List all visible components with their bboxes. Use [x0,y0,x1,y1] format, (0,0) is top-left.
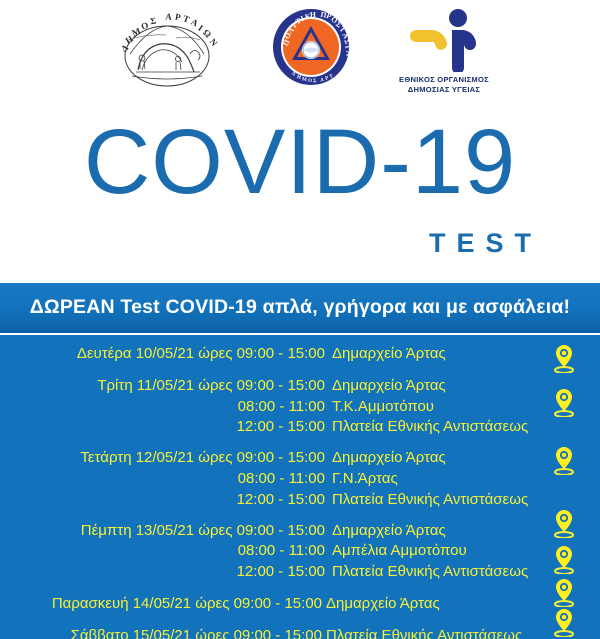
schedule-row-place: Πλατεία Εθνικής Αντιστάσεως [325,417,528,438]
schedule-day-monday: Δευτέρα 10/05/21 ώρες 09:00 - 15:00 Δημα… [0,344,600,365]
schedule-day-friday: Παρασκευή 14/05/21 ώρες 09:00 - 15:00 Δη… [0,594,600,615]
eody-caption-line2: ΔΗΜΟΣΙΑΣ ΥΓΕΙΑΣ [399,85,489,95]
schedule-row: 08:00 - 11:00 Τ.Κ.Αμμοτόπου [0,397,600,418]
schedule-row-lead: 08:00 - 11:00 [0,469,325,490]
svg-text:Σ: Σ [150,16,157,27]
announcement-banner-text: ΔΩΡΕΑΝ Test COVID-19 απλά, γρήγορα και μ… [30,296,570,319]
schedule-row: 12:00 - 15:00 Πλατεία Εθνικής Αντιστάσεω… [0,562,600,583]
schedule-row-place: Δημαρχείο Άρτας [325,521,446,542]
schedule-row-place: Τ.Κ.Αμμοτόπου [325,397,434,418]
svg-text:Ν: Ν [208,37,220,49]
svg-text:Ω: Ω [201,27,213,39]
schedule-row-lead: 08:00 - 11:00 [0,541,325,562]
eody-caption: ΕΘΝΙΚΟΣ ΟΡΓΑΝΙΣΜΟΣ ΔΗΜΟΣΙΑΣ ΥΓΕΙΑΣ [399,75,489,95]
schedule-row-place: Γ.Ν.Άρτας [325,469,398,490]
map-pin-icon[interactable] [552,387,576,417]
svg-text:Ο: Ο [140,20,149,31]
schedule-row-place: Δημαρχείο Άρτας [325,344,446,365]
schedule-row-place: Αμπέλια Αμμοτόπου [325,541,467,562]
map-pin-icon[interactable] [552,508,576,538]
schedule-row-lead: Τρίτη 11/05/21 ώρες 09:00 - 15:00 [0,376,325,397]
schedule-row-lead: 12:00 - 15:00 [0,562,325,583]
map-pin-icon[interactable] [552,577,576,607]
announcement-banner: ΔΩΡΕΑΝ Test COVID-19 απλά, γρήγορα και μ… [0,283,600,333]
svg-text:Α: Α [165,11,173,21]
map-pin-icon[interactable] [552,607,576,637]
poster-root: Δ Η Μ Ο Σ Α Ρ Τ Α Ι Ω Ν ΔΗΜΟΣ ΑΡΤΑΙΩΝ [0,0,600,639]
schedule-day-saturday: Σάββατο 15/05/21 ώρες 09:00 - 15:00 Πλατ… [0,626,600,639]
schedule-row-place: Δημαρχείο Άρτας [322,594,440,615]
page-subtitle: TEST [429,228,542,259]
schedule-row: 12:00 - 15:00 Πλατεία Εθνικής Αντιστάσεω… [0,417,600,438]
logo-dimos-artaion: Δ Η Μ Ο Σ Α Ρ Τ Α Ι Ω Ν ΔΗΜΟΣ ΑΡΤΑΙΩΝ [108,8,226,92]
schedule-row: Παρασκευή 14/05/21 ώρες 09:00 - 15:00 Δη… [0,594,600,615]
schedule-row-lead: Πέμπτη 13/05/21 ώρες 09:00 - 15:00 [0,521,325,542]
schedule-row: Δευτέρα 10/05/21 ώρες 09:00 - 15:00 Δημα… [0,344,600,365]
schedule-row-lead: 08:00 - 11:00 [0,397,325,418]
schedule-row-place: Δημαρχείο Άρτας [325,448,446,469]
schedule-row-lead: Δευτέρα 10/05/21 ώρες 09:00 - 15:00 [0,344,325,365]
svg-text:Τ: Τ [182,13,191,24]
schedule-row-lead: 12:00 - 15:00 [0,490,325,511]
schedule-day-tuesday: Τρίτη 11/05/21 ώρες 09:00 - 15:00 Δημαρχ… [0,376,600,438]
politiki-prostasia-seal-icon: Π Ο Λ Ι Τ Ι Κ Η Π Ρ Ο Σ Τ Α Σ Ι Α [272,8,350,86]
eody-caption-line1: ΕΘΝΙΚΟΣ ΟΡΓΑΝΙΣΜΟΣ [399,75,489,85]
title-block: COVID-19 [0,116,600,208]
logo-eody: ΕΘΝΙΚΟΣ ΟΡΓΑΝΙΣΜΟΣ ΔΗΜΟΣΙΑΣ ΥΓΕΙΑΣ [396,8,492,95]
schedule-row: 12:00 - 15:00 Πλατεία Εθνικής Αντιστάσεω… [0,490,600,511]
svg-text:Ρ: Ρ [174,12,182,23]
dimos-artaion-seal-icon: Δ Η Μ Ο Σ Α Ρ Τ Α Ι Ω Ν [108,8,226,92]
schedule-row-place: Δημαρχείο Άρτας [325,376,446,397]
schedule-row-lead: Σάββατο 15/05/21 ώρες 09:00 - 15:00 [0,626,322,639]
schedule-row: 08:00 - 11:00 Αμπέλια Αμμοτόπου [0,541,600,562]
logo-politiki-prostasia: Π Ο Λ Ι Τ Ι Κ Η Π Ρ Ο Σ Τ Α Σ Ι Α [272,8,350,86]
svg-text:Ο: Ο [308,78,312,84]
schedule-day-thursday: Πέμπτη 13/05/21 ώρες 09:00 - 15:00 Δημαρ… [0,521,600,583]
schedule-panel: Δευτέρα 10/05/21 ώρες 09:00 - 15:00 Δημα… [0,335,600,639]
schedule-list: Δευτέρα 10/05/21 ώρες 09:00 - 15:00 Δημα… [0,335,600,639]
schedule-row-lead: Τετάρτη 12/05/21 ώρες 09:00 - 15:00 [0,448,325,469]
schedule-row-lead: 12:00 - 15:00 [0,417,325,438]
schedule-row: Τρίτη 11/05/21 ώρες 09:00 - 15:00 Δημαρχ… [0,376,600,397]
schedule-row-place: Πλατεία Εθνικής Αντιστάσεως [325,562,528,583]
schedule-row-place: Πλατεία Εθνικής Αντιστάσεως [322,626,522,639]
schedule-row-place: Πλατεία Εθνικής Αντιστάσεως [325,490,528,511]
map-pin-icon[interactable] [552,343,576,373]
map-pin-icon[interactable] [552,544,576,574]
eody-logo-icon [396,8,492,72]
svg-text:Α: Α [344,50,350,57]
svg-text:Η: Η [310,10,316,19]
logo-row: Δ Η Μ Ο Σ Α Ρ Τ Α Ι Ω Ν ΔΗΜΟΣ ΑΡΤΑΙΩΝ [0,0,600,112]
map-pin-icon[interactable] [552,445,576,475]
schedule-row: Τετάρτη 12/05/21 ώρες 09:00 - 15:00 Δημα… [0,448,600,469]
schedule-row: Πέμπτη 13/05/21 ώρες 09:00 - 15:00 Δημαρ… [0,521,600,542]
schedule-row: Σάββατο 15/05/21 ώρες 09:00 - 15:00 Πλατ… [0,626,600,639]
schedule-day-wednesday: Τετάρτη 12/05/21 ώρες 09:00 - 15:00 Δημα… [0,448,600,510]
page-title: COVID-19 [0,116,600,208]
schedule-row: 08:00 - 11:00 Γ.Ν.Άρτας [0,469,600,490]
schedule-row-lead: Παρασκευή 14/05/21 ώρες 09:00 - 15:00 [0,594,322,615]
